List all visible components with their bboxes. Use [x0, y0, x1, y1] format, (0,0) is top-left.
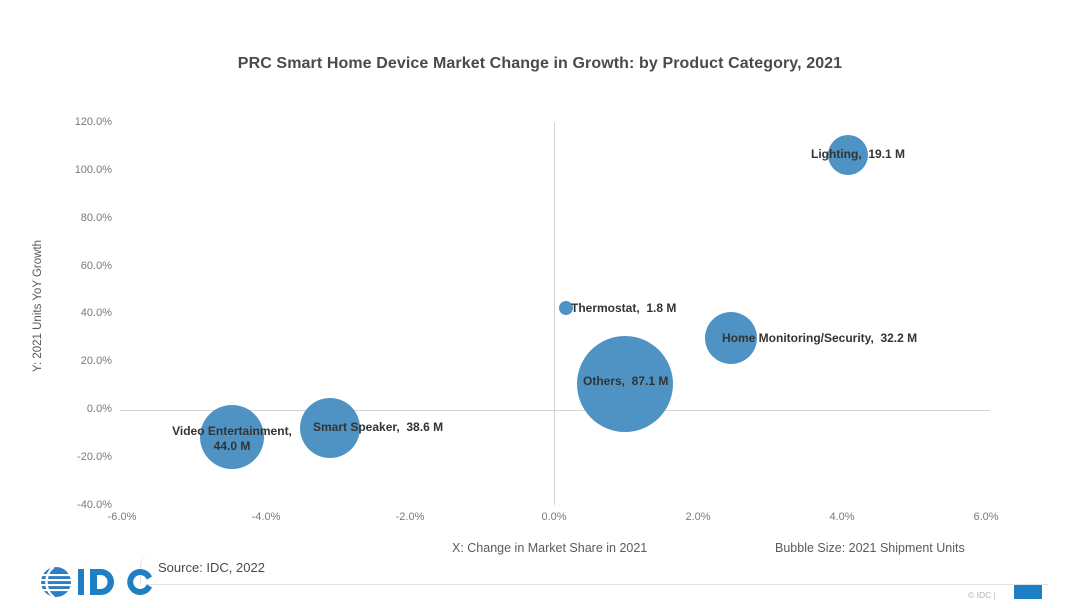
idc-globe-icon [41, 567, 71, 597]
idc-blue-square [1014, 585, 1042, 599]
bubble-label: Lighting, 19.1 M [811, 147, 905, 162]
copyright-text: © IDC | [968, 590, 996, 600]
y-axis-tick: -20.0% [40, 452, 112, 463]
source-text: Source: IDC, 2022 [158, 560, 265, 575]
y-axis-tick: 20.0% [40, 356, 112, 367]
y-axis-tick: 60.0% [40, 261, 112, 272]
y-zero-axis-line [554, 122, 555, 505]
bubble-label: Smart Speaker, 38.6 M [313, 420, 443, 435]
chart-footer: X: Change in Market Share in 2021 Bubble… [0, 520, 1080, 608]
idc-wordmark [78, 569, 152, 595]
chart-container: PRC Smart Home Device Market Change in G… [0, 0, 1080, 608]
y-axis-tick: -40.0% [40, 500, 112, 511]
y-axis-tick: 0.0% [40, 404, 112, 415]
bubble-label: Thermostat, 1.8 M [571, 301, 676, 316]
y-axis-tick: 120.0% [40, 117, 112, 128]
bubble-label: Others, 87.1 M [583, 374, 668, 389]
y-axis-tick: 40.0% [40, 308, 112, 319]
bubble-label: Home Monitoring/Security, 32.2 M [722, 331, 917, 346]
bubble-label: Video Entertainment, 44.0 M [137, 424, 327, 454]
x-axis-caption: X: Change in Market Share in 2021 [452, 541, 647, 555]
y-axis-tick: 80.0% [40, 213, 112, 224]
y-axis-title: Y: 2021 Units YoY Growth [32, 206, 44, 406]
idc-logo [40, 566, 158, 598]
plot-area: Y: 2021 Units YoY Growth 120.0%100.0%80.… [0, 0, 1080, 520]
bubble-size-caption: Bubble Size: 2021 Shipment Units [775, 541, 965, 555]
y-axis-tick: 100.0% [40, 165, 112, 176]
footer-divider [148, 584, 1048, 585]
